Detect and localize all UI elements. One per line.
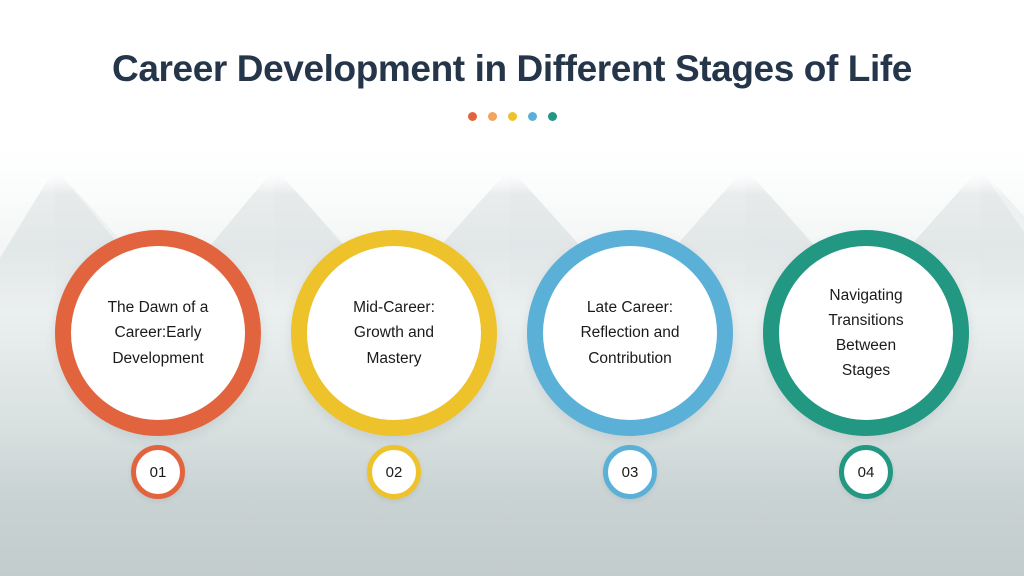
stage-item-2[interactable]: Mid-Career: Growth and Mastery [291, 230, 497, 436]
stage-item-4[interactable]: Navigating Transitions Between Stages [763, 230, 969, 436]
stage-label-1: The Dawn of a Career:Early Development [83, 295, 233, 370]
stage-label-4: Navigating Transitions Between Stages [791, 283, 941, 383]
stage-number-3: 03 [622, 465, 639, 480]
stage-item-3[interactable]: Late Career: Reflection and Contribution [527, 230, 733, 436]
stage-number-badge-3[interactable]: 03 [603, 445, 657, 499]
stage-number-badge-4[interactable]: 04 [839, 445, 893, 499]
stage-circle-3[interactable]: Late Career: Reflection and Contribution [527, 230, 733, 436]
stage-number-1: 01 [150, 465, 167, 480]
stage-number-2: 02 [386, 465, 403, 480]
stage-circle-4[interactable]: Navigating Transitions Between Stages [763, 230, 969, 436]
stage-label-2: Mid-Career: Growth and Mastery [319, 295, 469, 370]
stage-circle-2[interactable]: Mid-Career: Growth and Mastery [291, 230, 497, 436]
stage-circle-1[interactable]: The Dawn of a Career:Early Development [55, 230, 261, 436]
stage-number-badge-1[interactable]: 01 [131, 445, 185, 499]
stage-item-1[interactable]: The Dawn of a Career:Early Development [55, 230, 261, 436]
stage-number-4: 04 [858, 465, 875, 480]
stage-number-badge-2[interactable]: 02 [367, 445, 421, 499]
stages-row: The Dawn of a Career:Early Development M… [0, 0, 1024, 576]
stage-label-3: Late Career: Reflection and Contribution [555, 295, 705, 370]
infographic-canvas: Career Development in Different Stages o… [0, 0, 1024, 576]
